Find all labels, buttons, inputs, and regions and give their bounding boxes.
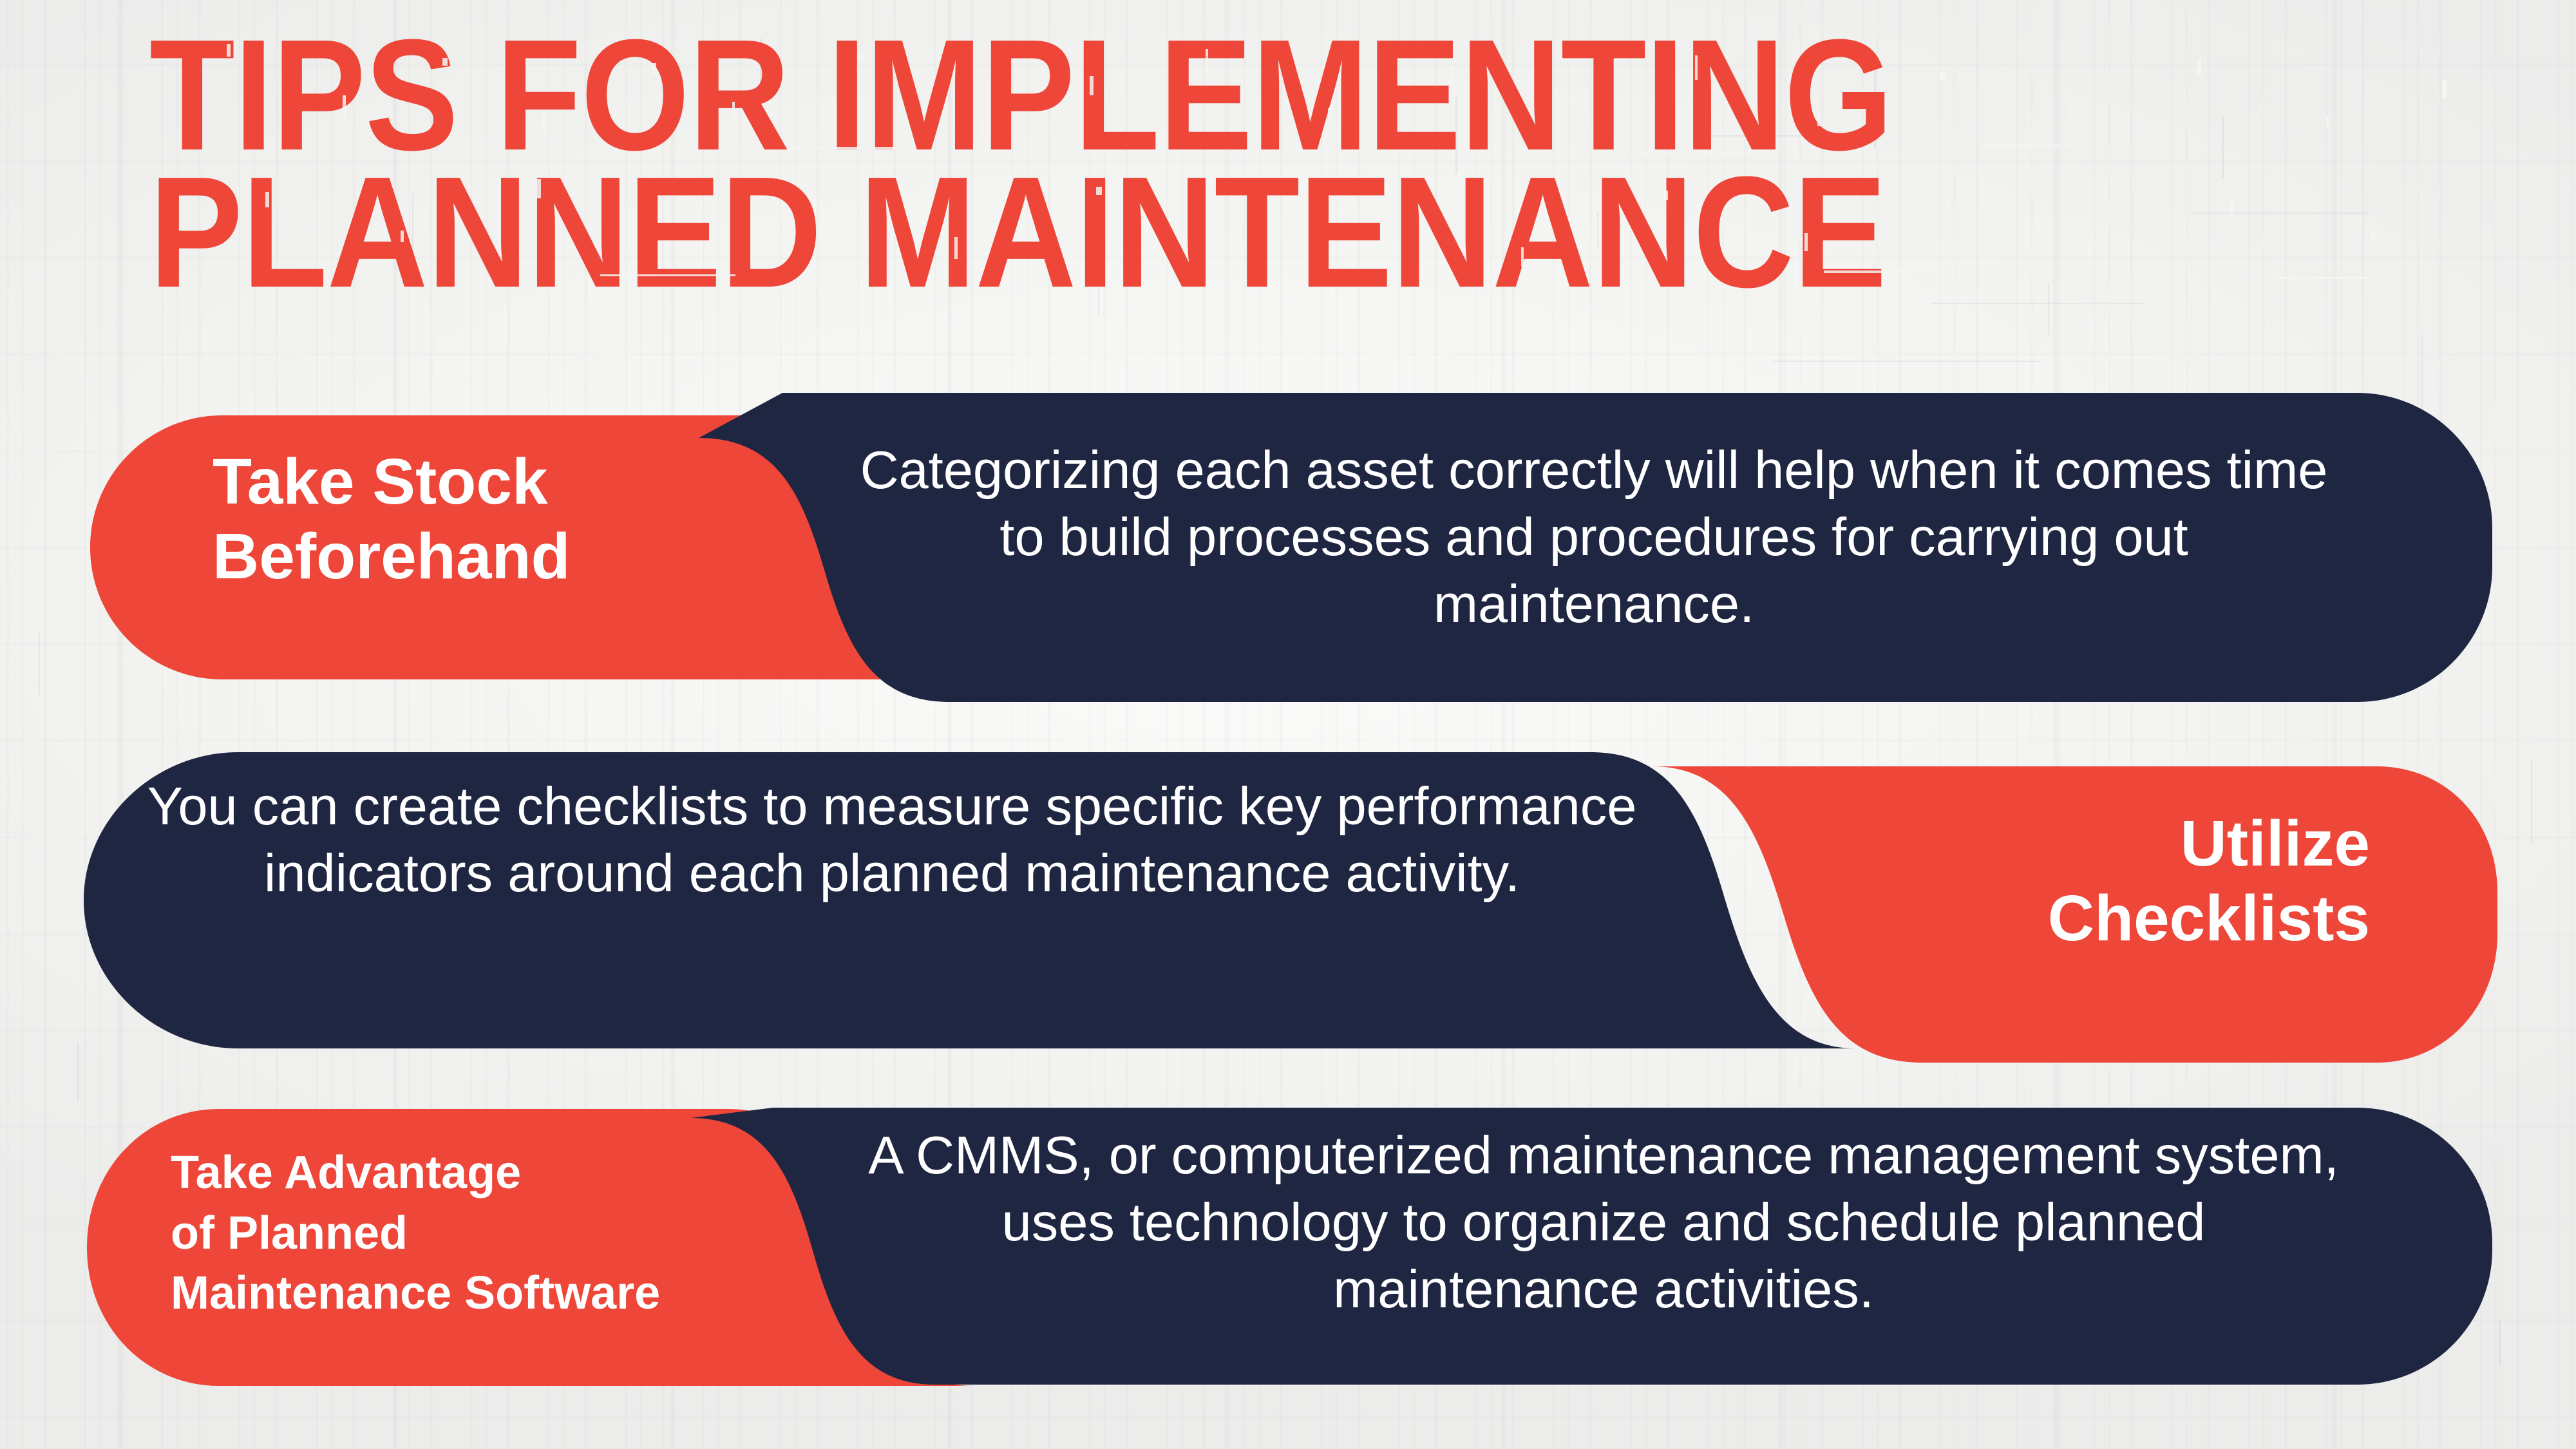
page-title: TIPS FOR IMPLEMENTING PLANNED MAINTENANC… (149, 18, 2468, 292)
tip-card-1-label: Take Stock Beforehand (213, 444, 571, 594)
tip-card-3-label: Take Advantage of Planned Maintenance So… (171, 1143, 660, 1324)
tip-card-2-body: You can create checklists to measure spe… (113, 773, 1671, 907)
tip-card-1-body: Categorizing each asset correctly will h… (857, 437, 2331, 638)
title-line-2: PLANNED MAINTENANCE (149, 155, 2576, 310)
tip-card-2-label: Utilize Checklists (1726, 806, 2370, 956)
tip-card-3-body: A CMMS, or computerized maintenance mana… (850, 1122, 2357, 1323)
